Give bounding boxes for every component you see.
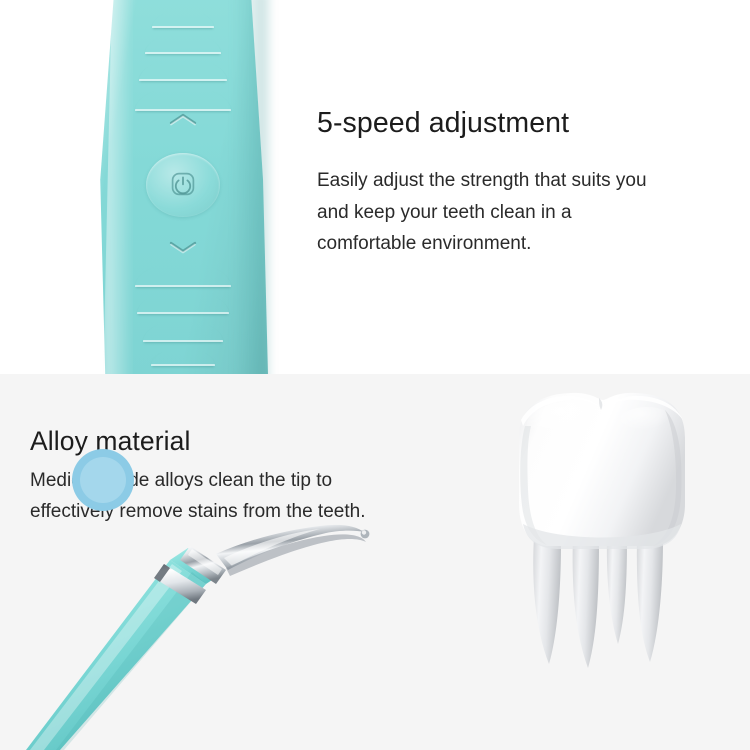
speed-body-line-1: Easily adjust the strength that suits yo… (317, 165, 732, 196)
device-handle-photo (95, 0, 270, 374)
speed-heading: 5-speed adjustment (317, 108, 732, 139)
panel-alloy-material: Alloy material Medical grade alloys clea… (0, 374, 750, 750)
handle-edge-shadow (234, 0, 268, 374)
chevron-up-icon (168, 112, 198, 126)
scaler-wand (20, 524, 540, 750)
speed-text-block: 5-speed adjustment Easily adjust the str… (317, 108, 732, 259)
chevron-down-icon (168, 240, 198, 254)
stain-highlight-outer (72, 449, 134, 511)
product-infographic: 5-speed adjustment Easily adjust the str… (0, 0, 750, 750)
panel-speed-adjustment: 5-speed adjustment Easily adjust the str… (0, 0, 750, 374)
power-icon (170, 171, 196, 197)
speed-body-line-3: comfortable environment. (317, 228, 732, 259)
stain-highlight-inner (80, 457, 126, 503)
speed-body-line-2: and keep your teeth clean in a (317, 197, 732, 228)
